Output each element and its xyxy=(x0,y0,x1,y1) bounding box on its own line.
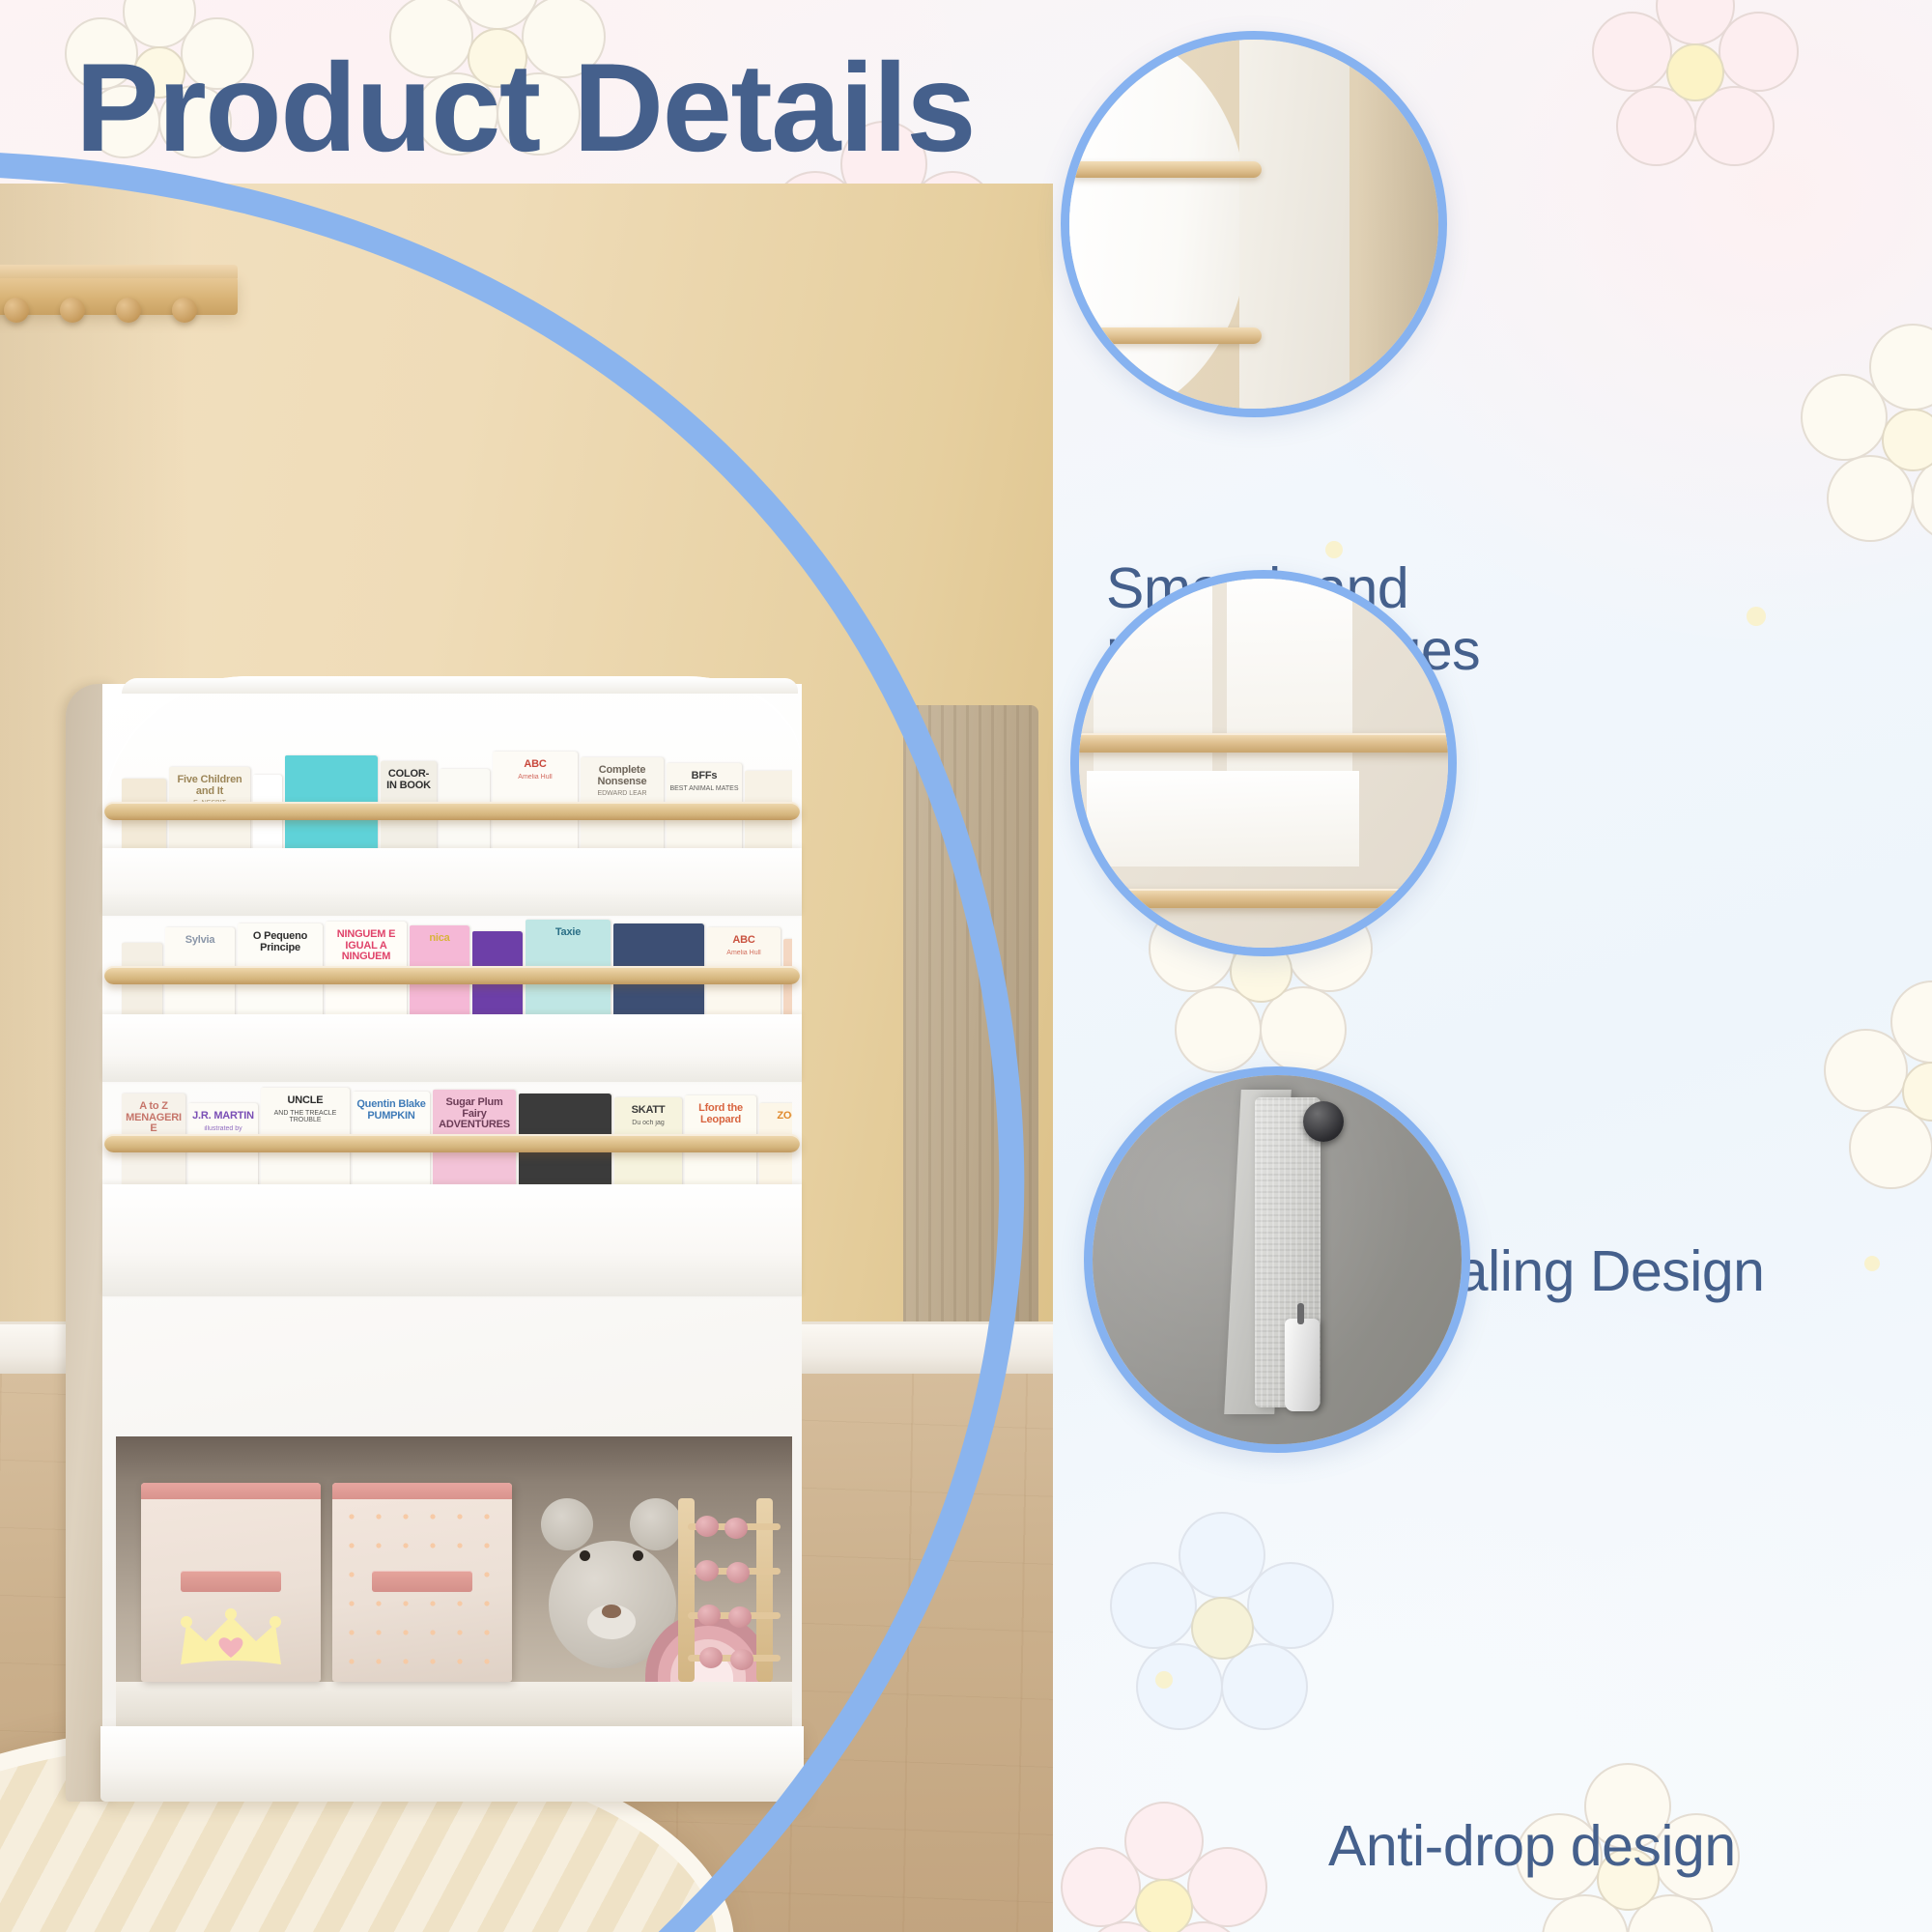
flower-bottom-left xyxy=(1053,1797,1275,1932)
detail-photo-appealing-design xyxy=(1070,570,1457,956)
flower-petal xyxy=(1542,1894,1629,1932)
shelf-top-edge xyxy=(122,678,798,694)
decor-dot xyxy=(1864,1256,1880,1271)
flower-petal xyxy=(1616,86,1696,166)
flower-petal xyxy=(1175,986,1262,1073)
flower-petal xyxy=(1912,455,1932,542)
book-subtitle: Du och jag xyxy=(629,1120,667,1126)
detail3-wall-anchor xyxy=(1285,1319,1320,1411)
wall-peg xyxy=(60,298,85,323)
wooden-rail-1 xyxy=(104,802,800,820)
book-title: NINGUEM E IGUAL A NINGUEM xyxy=(326,929,407,963)
teddy-nose xyxy=(602,1605,621,1618)
flower-petal xyxy=(1260,986,1347,1073)
peg-rack-cap xyxy=(0,265,238,278)
wooden-abacus xyxy=(674,1498,792,1682)
book-title: BFFs xyxy=(689,771,721,782)
detail2-divider-panel xyxy=(1094,570,1211,785)
flower-petal xyxy=(1247,1562,1334,1649)
flower-petal xyxy=(1592,12,1672,92)
book-title: ZOO xyxy=(774,1111,792,1122)
flower-petal xyxy=(1085,1921,1165,1932)
infographic-canvas: Five Children and ItE. NESBITCOLOR-IN BO… xyxy=(0,0,1932,1932)
decor-dot xyxy=(1747,607,1766,626)
flower-right-upper xyxy=(1584,0,1806,184)
flower-petal xyxy=(1179,1512,1265,1599)
book-title: Complete Nonsense xyxy=(581,765,664,787)
wooden-rail-3 xyxy=(104,1134,800,1152)
wall-peg xyxy=(116,298,141,323)
book-subtitle: AND THE TREACLE TROUBLE xyxy=(261,1110,350,1124)
flower-petal xyxy=(1656,0,1736,45)
detail1-wooden-rail xyxy=(1069,327,1262,344)
wall-peg xyxy=(172,298,197,323)
flower-petal xyxy=(1890,980,1932,1064)
flower-petal xyxy=(1694,86,1775,166)
main-product-photo: Five Children and ItE. NESBITCOLOR-IN BO… xyxy=(0,184,1053,1932)
book-title: COLOR-IN BOOK xyxy=(381,769,437,791)
detail-label-anti-drop-design: Anti-drop design xyxy=(1328,1816,1736,1878)
storage-bin-dots xyxy=(332,1483,512,1682)
book-subtitle: BEST ANIMAL MATES xyxy=(667,785,741,792)
wall-peg xyxy=(4,298,29,323)
flower-petal xyxy=(1824,1029,1907,1112)
flower-petal xyxy=(1110,1562,1197,1649)
flower-bottom-center xyxy=(1101,1507,1343,1748)
book-subtitle: illustrated by xyxy=(201,1125,244,1132)
flower-petal xyxy=(1136,1643,1223,1730)
flower-petal xyxy=(456,0,539,30)
detail2-wooden-rail xyxy=(1070,733,1457,753)
abacus-bead xyxy=(726,1562,750,1583)
abacus-bead xyxy=(697,1605,721,1626)
detail1-back-panel xyxy=(1239,31,1350,417)
book-title: ABC xyxy=(729,935,757,947)
flower-center xyxy=(1902,1062,1932,1122)
tier-3-front-panel xyxy=(102,1184,802,1296)
detail2-shelf-panel xyxy=(1087,771,1360,867)
flower-petal xyxy=(1719,12,1799,92)
flower-right-low xyxy=(1816,976,1932,1207)
wooden-rail-2 xyxy=(104,966,800,984)
detail3-screw xyxy=(1303,1101,1344,1142)
book-title: Lford the Leopard xyxy=(685,1103,756,1125)
flower-petal xyxy=(1187,1847,1267,1927)
flower-petal xyxy=(1163,1921,1243,1932)
bin-rim xyxy=(141,1483,321,1499)
book-title: SKATT xyxy=(629,1105,668,1117)
book-title: Taxie xyxy=(553,927,583,939)
cubby-floor xyxy=(116,1682,792,1726)
crown-icon xyxy=(177,1608,285,1668)
page-title: Product Details xyxy=(75,44,975,170)
flower-petal xyxy=(1869,324,1932,411)
book-title: nica xyxy=(426,933,452,945)
flower-petal xyxy=(1124,1802,1205,1882)
book-title: O Pequeno Principe xyxy=(238,931,323,953)
flower-petal xyxy=(1627,1894,1714,1932)
flower-petal xyxy=(1849,1106,1932,1189)
abacus-bead xyxy=(728,1606,752,1628)
book-title: J.R. MARTIN xyxy=(189,1111,257,1122)
abacus-bead xyxy=(730,1649,753,1670)
detail-photo-anti-drop-design xyxy=(1084,1066,1470,1453)
book-subtitle: Amelia Hull xyxy=(515,774,554,781)
abacus-bead xyxy=(699,1647,723,1668)
book-subtitle: Amelia Hull xyxy=(724,950,763,956)
bottom-open-cubby xyxy=(116,1436,792,1726)
detail-photo-smooth-rounded-edges xyxy=(1061,31,1447,417)
detail1-shadow xyxy=(1357,40,1438,409)
flower-center xyxy=(1882,409,1932,471)
abacus-bead xyxy=(696,1516,719,1537)
flower-petal xyxy=(1061,1847,1141,1927)
teddy-eye xyxy=(580,1550,590,1561)
abacus-bead xyxy=(696,1560,719,1581)
book-subtitle: EDWARD LEAR xyxy=(594,790,649,797)
detail2-wooden-rail xyxy=(1070,889,1457,908)
book-title: UNCLE xyxy=(285,1095,327,1107)
shelf-base-plinth xyxy=(100,1726,804,1802)
book-title: Five Children and It xyxy=(169,775,250,797)
book-title: ABC xyxy=(521,759,549,771)
bin-handle xyxy=(372,1571,472,1592)
flower-petal xyxy=(1801,374,1888,461)
flower-center xyxy=(1666,43,1724,101)
flower-mid-right xyxy=(1792,319,1932,560)
teddy-ear xyxy=(541,1498,593,1550)
book-title: Quentin Blake PUMPKIN xyxy=(353,1099,430,1122)
book-title: Sylvia xyxy=(183,935,218,947)
detail1-wooden-rail xyxy=(1069,161,1262,178)
teddy-eye xyxy=(633,1550,643,1561)
bin-handle xyxy=(181,1571,281,1592)
book-title: A to Z MENAGERIE xyxy=(122,1101,185,1135)
bin-rim xyxy=(332,1483,512,1499)
flower-petal xyxy=(1827,455,1914,542)
book-title: Sugar Plum Fairy ADVENTURES xyxy=(433,1097,516,1131)
flower-petal xyxy=(1221,1643,1308,1730)
flower-center xyxy=(1191,1597,1254,1660)
decor-dot xyxy=(1155,1671,1173,1689)
window-curtain xyxy=(903,705,1038,1381)
white-kids-bookshelf: Five Children and ItE. NESBITCOLOR-IN BO… xyxy=(66,512,810,1802)
flower-center xyxy=(1135,1879,1193,1932)
abacus-bead xyxy=(724,1518,748,1539)
storage-bin-crown xyxy=(141,1483,321,1682)
